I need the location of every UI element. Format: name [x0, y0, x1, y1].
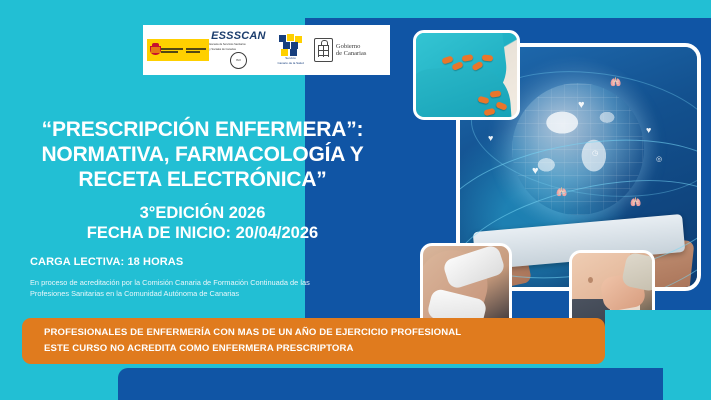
accreditation-note-line1: En proceso de acreditación por la Comisi…	[30, 277, 385, 288]
heart-icon: ♥	[488, 133, 493, 143]
pill	[482, 54, 494, 61]
logo-gobierno-espana-text	[161, 48, 183, 53]
course-title-line1: “PRESCRIPCIÓN ENFERMERA”:	[10, 118, 395, 143]
background-bottom-right-cyan	[605, 310, 711, 372]
servicio-canario-squares-icon	[279, 34, 303, 56]
requirements-line2: ESTE CURSO NO ACREDITA COMO ENFERMERA PR…	[44, 341, 605, 357]
logo-servicio-canario-salud: Servicio Canario de la Salud	[268, 34, 314, 66]
logo-gobierno-de-canarias: Gobierno de Canarias	[314, 38, 386, 62]
esscan-seal-icon: ISO	[230, 52, 247, 69]
background-top-cyan-strip	[0, 0, 711, 18]
course-start-date: FECHA DE INICIO: 20/04/2026	[10, 223, 395, 243]
esscan-subtitle-line2: y Sociales de Canarias	[209, 48, 267, 51]
course-edition-block: 3°EDICIÓN 2026 FECHA DE INICIO: 20/04/20…	[10, 203, 395, 243]
lungs-icon: 🫁	[610, 77, 621, 88]
heart-icon: ♥	[646, 125, 651, 135]
photo-pills-in-gloved-hand	[413, 30, 520, 120]
logo-ministerio-text	[186, 48, 206, 53]
gobierno-canarias-line2: de Canarias	[336, 50, 367, 57]
servicio-canario-line2: Canario de la Salud	[277, 62, 303, 66]
course-title: “PRESCRIPCIÓN ENFERMERA”: NORMATIVA, FAR…	[10, 118, 395, 192]
institutional-logo-bar: ESSSCAN Escuela de Servicios Sanitarios …	[143, 25, 390, 75]
canarias-emblem-icon	[314, 38, 333, 62]
accreditation-note-line2: Profesiones Sanitarias en la Comunidad A…	[30, 288, 385, 299]
course-edition: 3°EDICIÓN 2026	[10, 203, 395, 223]
requirements-line1: PROFESIONALES DE ENFERMERÍA CON MAS DE U…	[44, 325, 605, 341]
poster-root: ♥ 🫁 ♥ ♥ 🫁 ♥ 🫁 ● ◷ ◎	[0, 0, 711, 400]
course-title-line2: NORMATIVA, FARMACOLOGÍA Y	[10, 143, 395, 168]
requirements-banner: PROFESIONALES DE ENFERMERÍA CON MAS DE U…	[22, 318, 605, 364]
gobierno-canarias-line1: Gobierno	[336, 43, 367, 50]
esscan-subtitle-line1: Escuela de Servicios Sanitarios	[209, 43, 267, 46]
heart-icon: ♥	[578, 99, 585, 111]
course-workload: CARGA LECTIVA: 18 HORAS	[30, 256, 183, 268]
navel	[588, 277, 593, 283]
background-bottom-blue-block	[118, 368, 663, 400]
logo-gobierno-de-espana	[147, 39, 209, 61]
logo-esscan: ESSSCAN Escuela de Servicios Sanitarios …	[209, 31, 267, 68]
spain-coat-of-arms-icon	[150, 43, 158, 58]
gobierno-canarias-text: Gobierno de Canarias	[336, 43, 367, 58]
esscan-acronym: ESSSCAN	[211, 31, 266, 42]
course-title-line3: RECETA ELECTRÓNICA”	[10, 168, 395, 193]
accreditation-note: En proceso de acreditación por la Comisi…	[30, 277, 385, 300]
